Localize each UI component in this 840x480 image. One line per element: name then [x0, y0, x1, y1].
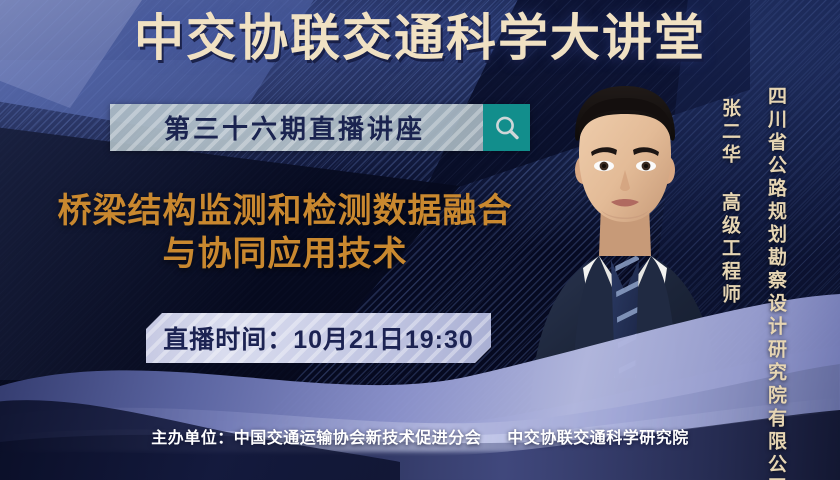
lecture-title-line-1: 桥梁结构监测和检测数据融合: [58, 192, 513, 230]
livestream-time-banner: 直播时间：10月21日19:30: [146, 313, 491, 363]
lecture-title: 桥梁结构监测和检测数据融合 与协同应用技术: [20, 190, 550, 276]
search-icon[interactable]: [483, 104, 530, 151]
speaker-name-title: 张二华 高级工程师: [716, 98, 743, 307]
livestream-time-text: 直播时间：10月21日19:30: [163, 320, 474, 356]
footer-org-1: 中国交通运输协会新技术促进分会: [234, 430, 482, 447]
episode-banner: 第三十六期直播讲座: [110, 104, 530, 151]
poster-canvas: 中交协联交通科学大讲堂 第三十六期直播讲座 桥梁结构监测和检测数据融合 与协同应…: [0, 0, 840, 480]
footer-prefix: 主办单位：: [151, 430, 234, 447]
footer-organizers: 主办单位：中国交通运输协会新技术促进分会中交协联交通科学研究院: [0, 424, 840, 448]
speaker-organization: 四川省公路规划勘察设计研究院有限公司: [762, 86, 789, 480]
episode-label: 第三十六期直播讲座: [110, 109, 483, 146]
footer-org-2: 中交协联交通科学研究院: [507, 430, 689, 447]
lecture-title-line-2: 与协同应用技术: [20, 233, 550, 276]
page-title: 中交协联交通科学大讲堂: [0, 13, 840, 63]
